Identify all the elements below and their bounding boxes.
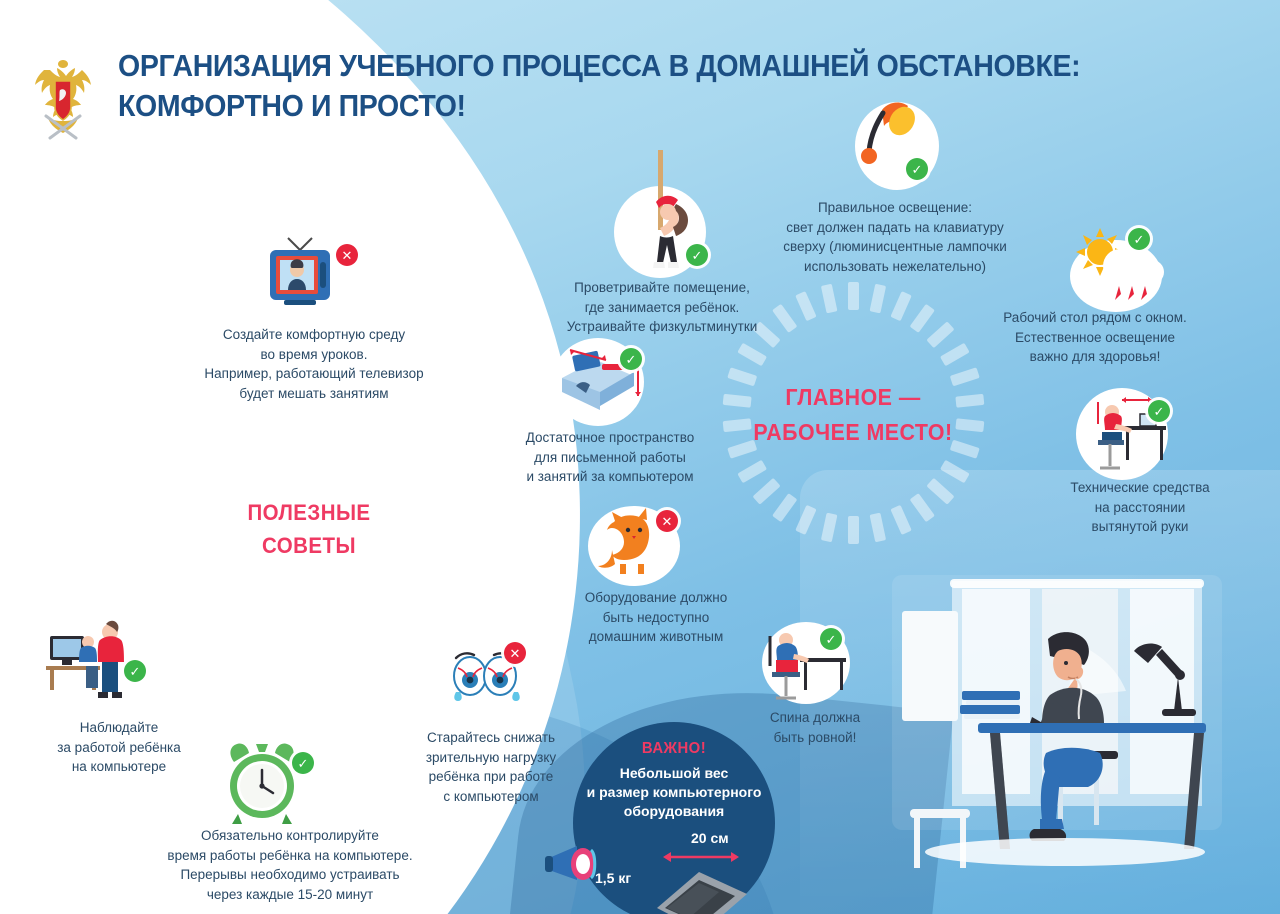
pets-badge-no: ✕ [656, 510, 678, 532]
ring-tick [820, 284, 837, 314]
ring-tick [324, 610, 341, 638]
ring-tick [361, 589, 386, 616]
exercise-badge-ok: ✓ [686, 244, 708, 266]
ring-tick [231, 589, 256, 616]
ring-tick [820, 513, 837, 543]
poster-header: ОРГАНИЗАЦИЯ УЧЕБНОГО ПРОЦЕССА В ДОМАШНЕЙ… [0, 38, 1240, 158]
alarm-clock-icon [212, 736, 320, 834]
window-badge-ok: ✓ [1128, 228, 1150, 250]
russian-federation-emblem-icon [24, 54, 102, 146]
ring-tick [890, 291, 911, 321]
page-title: ОРГАНИЗАЦИЯ УЧЕБНОГО ПРОЦЕССА В ДОМАШНЕЙ… [118, 46, 1112, 125]
title-line-2: КОМФОРТНО И ПРОСТО! [118, 86, 1112, 126]
megaphone-icon [543, 840, 609, 890]
ring-tick [277, 420, 294, 448]
ring-tick [344, 428, 366, 456]
ring-tick [890, 505, 911, 535]
ring-tick [795, 291, 816, 321]
ring-tick [772, 493, 797, 522]
important-title: ВАЖНО! [580, 740, 768, 758]
ring-tick [869, 284, 886, 314]
ring-tick [848, 516, 859, 544]
ring-tick [344, 602, 366, 630]
ring-tick [795, 505, 816, 535]
tv-badge-no: ✕ [336, 244, 358, 266]
tips-ring-label: ПОЛЕЗНЫЕ СОВЕТЫ [206, 496, 412, 562]
eyestrain-badge-no: ✕ [504, 642, 526, 664]
ring-tick [376, 573, 404, 597]
posture-badge-ok: ✓ [820, 628, 842, 650]
important-body: Небольшой вес и размер компьютерного обо… [579, 764, 769, 821]
arm-distance-tip-text: Технические средства на расстоянии вытян… [1032, 478, 1248, 537]
ring-tick [737, 343, 767, 367]
tips-ring: ПОЛЕЗНЫЕ СОВЕТЫ [198, 418, 420, 640]
ring-tick [722, 394, 751, 408]
tv-tip-text: Создайте комфортную среду во время уроко… [168, 325, 460, 403]
supervise-badge-ok: ✓ [124, 660, 146, 682]
ring-tick [215, 461, 243, 485]
sun-cloud-icon [1062, 222, 1174, 318]
ring-tick [939, 460, 969, 484]
ring-tick [215, 573, 243, 597]
desk-lamp-icon [850, 96, 946, 192]
ring-tick [253, 602, 275, 630]
window-tip-text: Рабочий стол рядом с окном. Естественное… [955, 308, 1235, 367]
title-line-1: ОРГАНИЗАЦИЯ УЧЕБНОГО ПРОЦЕССА В ДОМАШНЕЙ… [118, 48, 1080, 83]
lamp-badge-ok: ✓ [906, 158, 928, 180]
ring-tick [231, 442, 256, 469]
sitting-posture-icon [756, 618, 856, 710]
supervise-tip-text: Наблюдайте за работой ребёнка на компьют… [18, 718, 220, 777]
ring-tick [955, 394, 984, 408]
space-tip-text: Достаточное пространство для письменной … [498, 428, 722, 487]
workplace-ring-label: ГЛАВНОЕ — РАБОЧЕЕ МЕСТО! [731, 380, 975, 449]
ring-tick [361, 442, 386, 469]
student-at-desk-illustration [880, 555, 1240, 900]
lamp-tip-text: Правильное освещение: свет должен падать… [745, 198, 1045, 276]
tablet-icon [641, 860, 757, 914]
pets-tip-text: Оборудование должно быть недоступно дома… [562, 588, 750, 647]
ring-tick [253, 428, 275, 456]
ring-tick [909, 304, 934, 333]
ring-tick [304, 418, 315, 444]
eyestrain-tip-text: Старайтесь снижать зрительную нагрузку р… [396, 728, 586, 806]
ring-tick [198, 510, 225, 524]
exercise-tip-text: Проветривайте помещение, где занимается … [538, 278, 786, 337]
tablet-width-label: 20 см [691, 830, 729, 846]
ring-tick [277, 610, 294, 638]
ring-tick [752, 478, 780, 505]
ring-tick [909, 493, 934, 522]
television-icon [258, 236, 342, 312]
ring-tick [926, 321, 954, 348]
ring-tick [926, 478, 954, 505]
ring-tick [848, 282, 859, 310]
ring-tick [324, 420, 341, 448]
arm-distance-badge-ok: ✓ [1148, 400, 1170, 422]
ring-tick [304, 614, 315, 640]
ring-tick [393, 510, 420, 524]
space-badge-ok: ✓ [620, 348, 642, 370]
infographic-poster: ОРГАНИЗАЦИЯ УЧЕБНОГО ПРОЦЕССА В ДОМАШНЕЙ… [0, 0, 1280, 914]
ring-tick [376, 461, 404, 485]
time-badge-ok: ✓ [292, 752, 314, 774]
parent-watching-child-icon [34, 610, 146, 710]
ring-tick [737, 460, 767, 484]
ring-tick [869, 513, 886, 543]
time-tip-text: Обязательно контролируйте время работы р… [140, 826, 440, 904]
